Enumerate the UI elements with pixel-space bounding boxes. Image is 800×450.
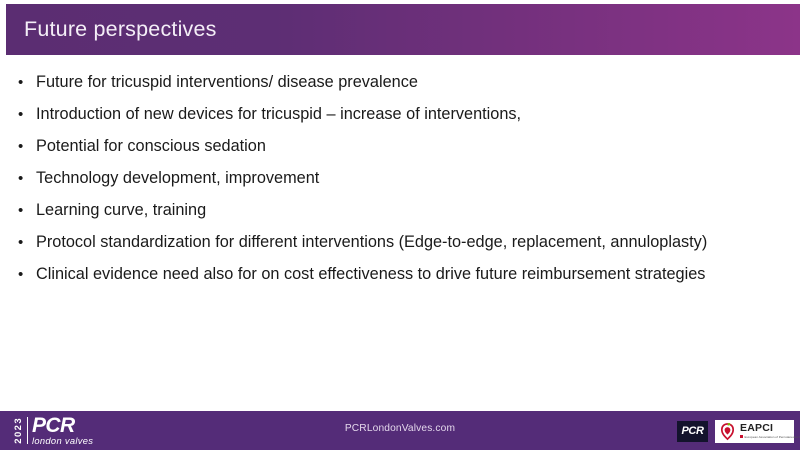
eapci-square-icon [740,435,743,438]
footer-partner-logos: PCR EAPCI European Association of Percut… [677,419,794,443]
list-item: • Clinical evidence need also for on cos… [18,262,774,288]
bullet-marker-icon: • [18,262,36,288]
list-item-text: Protocol standardization for different i… [36,230,774,256]
bullet-marker-icon: • [18,166,36,192]
pcr-badge-text: PCR [681,425,703,437]
list-item-text: Introduction of new devices for tricuspi… [36,102,774,128]
page-title: Future perspectives [6,17,217,42]
slide-title-bar: Future perspectives [6,4,800,55]
list-item: • Introduction of new devices for tricus… [18,102,774,128]
pcr-badge-logo: PCR [677,421,708,442]
list-item-text: Clinical evidence need also for on cost … [36,262,774,288]
list-item-text: Potential for conscious sedation [36,134,774,160]
slide-canvas: Future perspectives • Future for tricusp… [0,0,800,450]
eapci-logo: EAPCI European Association of Percutaneo… [715,420,794,443]
list-item: • Potential for conscious sedation [18,134,774,160]
list-item-text: Learning curve, training [36,198,774,224]
list-item: • Protocol standardization for different… [18,230,774,256]
bullet-list: • Future for tricuspid interventions/ di… [18,70,774,294]
bullet-marker-icon: • [18,230,36,256]
eapci-wordmark: EAPCI European Association of Percutaneo… [740,423,800,439]
bullet-marker-icon: • [18,70,36,96]
bullet-marker-icon: • [18,102,36,128]
bullet-marker-icon: • [18,198,36,224]
bullet-marker-icon: • [18,134,36,160]
eapci-tagline-text: European Association of Percutaneous Car… [745,435,800,439]
list-item: • Learning curve, training [18,198,774,224]
heart-shield-icon [718,422,737,441]
list-item: • Future for tricuspid interventions/ di… [18,70,774,96]
list-item-text: Future for tricuspid interventions/ dise… [36,70,774,96]
eapci-name-text: EAPCI [740,423,800,434]
list-item-text: Technology development, improvement [36,166,774,192]
list-item: • Technology development, improvement [18,166,774,192]
logo-subtitle-text: london valves [32,435,93,446]
eapci-tagline-row: European Association of Percutaneous Car… [740,435,800,439]
